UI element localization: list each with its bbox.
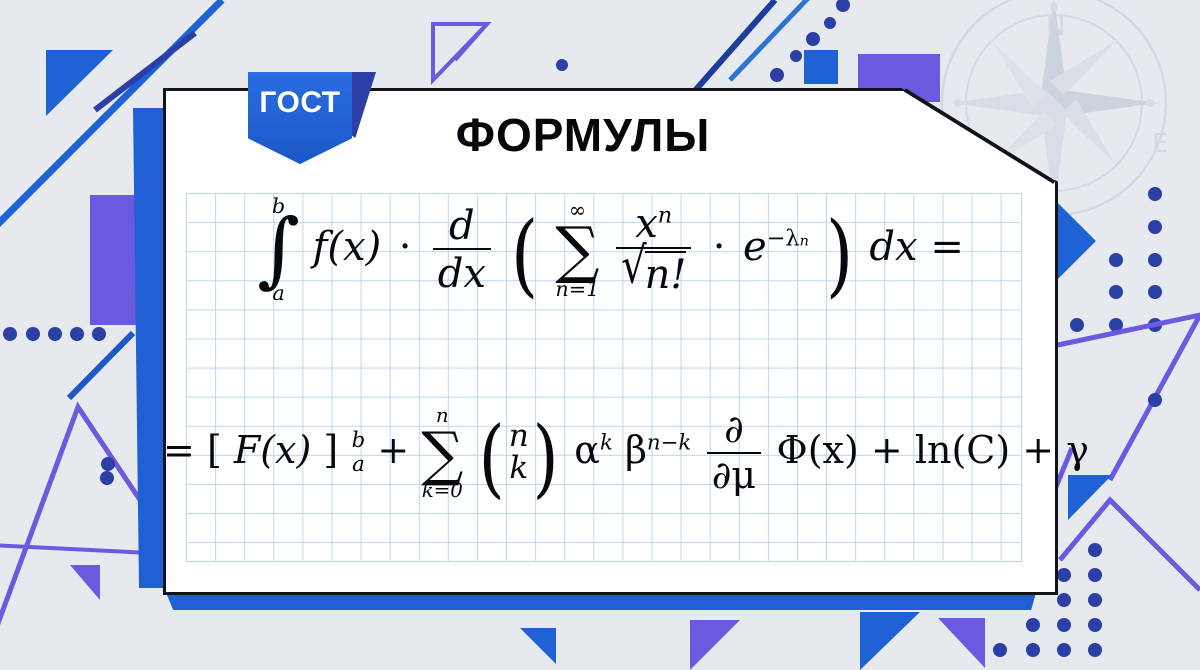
triangle-blue-bottom-right: [1068, 475, 1112, 520]
plus-sign-3: +: [1022, 428, 1054, 472]
sum-sign-2: ∑: [421, 427, 463, 480]
euler-gamma: γ: [1066, 428, 1089, 472]
alpha-power: αk: [574, 428, 613, 472]
compass-east-label: E: [1152, 129, 1168, 159]
eval-lower: a: [352, 453, 366, 477]
binom-open-paren: (: [479, 435, 505, 482]
sum-sign-1: ∑: [555, 222, 599, 278]
multiplication-dot-2: ·: [708, 224, 730, 270]
dot-trail-1: [770, 68, 784, 82]
definite-integral: b ∫ a: [257, 196, 300, 304]
summation-1: ∞ ∑ n=1: [555, 200, 599, 299]
plus-sign-2: +: [871, 428, 903, 472]
equals-sign-2: =: [163, 428, 195, 472]
exponential-term: e−λn: [743, 224, 809, 270]
triangle-bottom-left: [70, 565, 100, 600]
integral-lower-limit: a: [272, 283, 284, 304]
triangle-bottom-purple: [938, 618, 985, 668]
compass-north-label: N: [1046, 12, 1065, 42]
binom-top: n: [509, 421, 529, 453]
series-term-fraction: xn √n!: [616, 203, 691, 296]
triangle-bottom-middle-blue: [860, 612, 920, 670]
diagonal-line-left: [69, 333, 133, 398]
binomial-coefficient: ( n k ): [475, 421, 562, 485]
dot-trail-3: [806, 32, 820, 46]
phi-function: Φ(x): [777, 428, 859, 472]
eval-upper: b: [352, 429, 366, 453]
equals-sign-1: =: [930, 224, 964, 270]
dot-right-lone: [1148, 393, 1162, 407]
partial-denominator: ∂μ: [707, 452, 760, 496]
multiplication-dot-1: ·: [394, 224, 416, 270]
differential-dx: dx: [869, 224, 917, 270]
square-bottom-middle: [520, 628, 556, 664]
formula-layer: b ∫ a f(x) · d dx ( ∞ ∑ n=1 xn √n! · e−λ…: [163, 88, 1058, 595]
antiderivative: F(x): [234, 428, 311, 472]
natural-log-term: ln(C): [915, 428, 1010, 472]
dot-top-middle: [556, 59, 568, 71]
derivative-numerator: d: [444, 205, 479, 249]
square-top: [804, 50, 838, 84]
partial-numerator: ∂: [720, 410, 749, 451]
radicand: n!: [645, 251, 687, 296]
radical-sign: √: [621, 240, 647, 296]
bracket-close: ]: [323, 428, 338, 472]
integrand-function: f(x): [313, 224, 382, 270]
dot-left-1: [101, 457, 115, 471]
evaluation-limits: b a: [352, 429, 366, 477]
slide-canvas: N E: [0, 0, 1200, 670]
binom-close-paren: ): [532, 435, 558, 482]
dot-row-left: [3, 327, 106, 341]
triangle-bottom-middle: [690, 620, 740, 670]
sum-lower-limit-2: k=0: [422, 481, 463, 501]
close-paren-1: ): [825, 230, 852, 280]
spacer-bottom: [300, 660, 360, 670]
dot-trail-4: [824, 17, 836, 29]
chevron-bottom-right: [1060, 500, 1200, 590]
derivative-operator: d dx: [433, 205, 491, 295]
formula-row-1: b ∫ a f(x) · d dx ( ∞ ∑ n=1 xn √n! · e−λ…: [163, 196, 1058, 304]
formula-row-2: = [ F(x) ] b a + n ∑ k=0 ( n k ) α: [163, 406, 1058, 501]
dot-trail-5: [836, 0, 850, 12]
bracket-open: [: [207, 428, 222, 472]
integral-sign: ∫: [257, 218, 300, 282]
triangle-outline-top-inner: [455, 24, 487, 60]
summation-2: n ∑ k=0: [421, 406, 463, 501]
binom-bottom: k: [509, 453, 528, 485]
dot-trail-2: [790, 50, 802, 62]
plus-sign-1: +: [377, 428, 409, 472]
chevron-left: [0, 407, 140, 670]
open-paren-1: (: [511, 230, 538, 280]
dot-left-2: [100, 471, 114, 485]
beta-power: βn−k: [625, 428, 691, 472]
sum-lower-limit-1: n=1: [555, 279, 599, 300]
series-denominator: √n!: [616, 247, 691, 296]
derivative-denominator: dx: [433, 248, 491, 294]
partial-derivative-operator: ∂ ∂μ: [707, 410, 760, 496]
